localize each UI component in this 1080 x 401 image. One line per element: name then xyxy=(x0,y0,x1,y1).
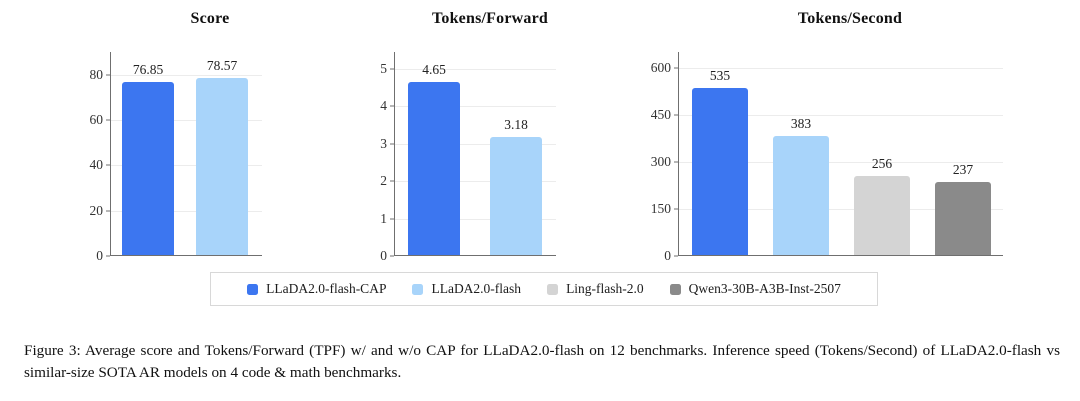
charts-row: Score02040608076.8578.57Tokens/Forward01… xyxy=(0,0,1080,268)
legend-item[interactable]: LLaDA2.0-flash xyxy=(412,281,521,297)
chart-title: Score xyxy=(60,10,360,28)
y-axis-tick-label: 5 xyxy=(380,61,394,77)
legend-item[interactable]: Qwen3-30B-A3B-Inst-2507 xyxy=(670,281,841,297)
bar xyxy=(773,136,829,256)
y-axis-tick-label: 3 xyxy=(380,136,394,152)
y-axis-tick-label: 600 xyxy=(651,60,678,76)
chart-legend: LLaDA2.0-flash-CAPLLaDA2.0-flashLing-fla… xyxy=(210,272,878,306)
legend-swatch-icon xyxy=(670,284,681,295)
legend-swatch-icon xyxy=(412,284,423,295)
x-axis-line xyxy=(110,255,262,256)
bar-value-label: 78.57 xyxy=(182,58,262,74)
y-axis-tick-label: 300 xyxy=(651,154,678,170)
plot-area: 0150300450600535383256237 xyxy=(678,52,1003,256)
bar xyxy=(935,182,991,256)
y-axis-tick-label: 450 xyxy=(651,107,678,123)
chart-title: Tokens/Forward xyxy=(360,10,620,28)
plot-area: 02040608076.8578.57 xyxy=(110,52,262,256)
legend-item[interactable]: LLaDA2.0-flash-CAP xyxy=(247,281,386,297)
x-axis-line xyxy=(394,255,556,256)
legend-item-label: Qwen3-30B-A3B-Inst-2507 xyxy=(689,281,841,297)
figure-3: Score02040608076.8578.57Tokens/Forward01… xyxy=(0,0,1080,401)
bar xyxy=(854,176,910,256)
bar xyxy=(408,82,460,256)
y-axis-tick-label: 20 xyxy=(90,203,111,219)
x-axis-line xyxy=(678,255,1003,256)
y-axis-tick-label: 40 xyxy=(90,157,111,173)
chart-title: Tokens/Second xyxy=(620,10,1080,28)
bar-value-label: 3.18 xyxy=(476,117,556,133)
bar-value-label: 237 xyxy=(921,162,1005,178)
chart-panel-0: Score02040608076.8578.57 xyxy=(60,0,360,268)
bar-value-label: 535 xyxy=(678,68,762,84)
legend-item[interactable]: Ling-flash-2.0 xyxy=(547,281,644,297)
legend-item-label: Ling-flash-2.0 xyxy=(566,281,644,297)
bar-value-label: 4.65 xyxy=(394,62,474,78)
bar xyxy=(692,88,748,256)
plot-area: 0123454.653.18 xyxy=(394,52,556,256)
y-axis-tick-label: 80 xyxy=(90,67,111,83)
chart-panel-2: Tokens/Second0150300450600535383256237 xyxy=(620,0,1080,268)
y-axis-line xyxy=(110,52,111,256)
y-axis-tick-label: 2 xyxy=(380,173,394,189)
chart-panel-1: Tokens/Forward0123454.653.18 xyxy=(360,0,620,268)
y-axis-tick-label: 4 xyxy=(380,98,394,114)
y-axis-tick-label: 150 xyxy=(651,201,678,217)
bar xyxy=(196,78,248,256)
legend-item-label: LLaDA2.0-flash-CAP xyxy=(266,281,386,297)
y-axis-line xyxy=(678,52,679,256)
bar-value-label: 256 xyxy=(840,156,924,172)
y-axis-tick-label: 0 xyxy=(380,248,394,264)
y-axis-tick-label: 60 xyxy=(90,112,111,128)
legend-item-label: LLaDA2.0-flash xyxy=(431,281,521,297)
y-axis-line xyxy=(394,52,395,256)
legend-swatch-icon xyxy=(247,284,258,295)
y-axis-tick-label: 0 xyxy=(664,248,678,264)
figure-caption: Figure 3: Average score and Tokens/Forwa… xyxy=(24,340,1060,383)
y-axis-tick-label: 1 xyxy=(380,211,394,227)
y-axis-tick-label: 0 xyxy=(96,248,110,264)
bar-value-label: 76.85 xyxy=(108,62,188,78)
bar-value-label: 383 xyxy=(759,116,843,132)
bar xyxy=(490,137,542,256)
bar xyxy=(122,82,174,256)
legend-swatch-icon xyxy=(547,284,558,295)
